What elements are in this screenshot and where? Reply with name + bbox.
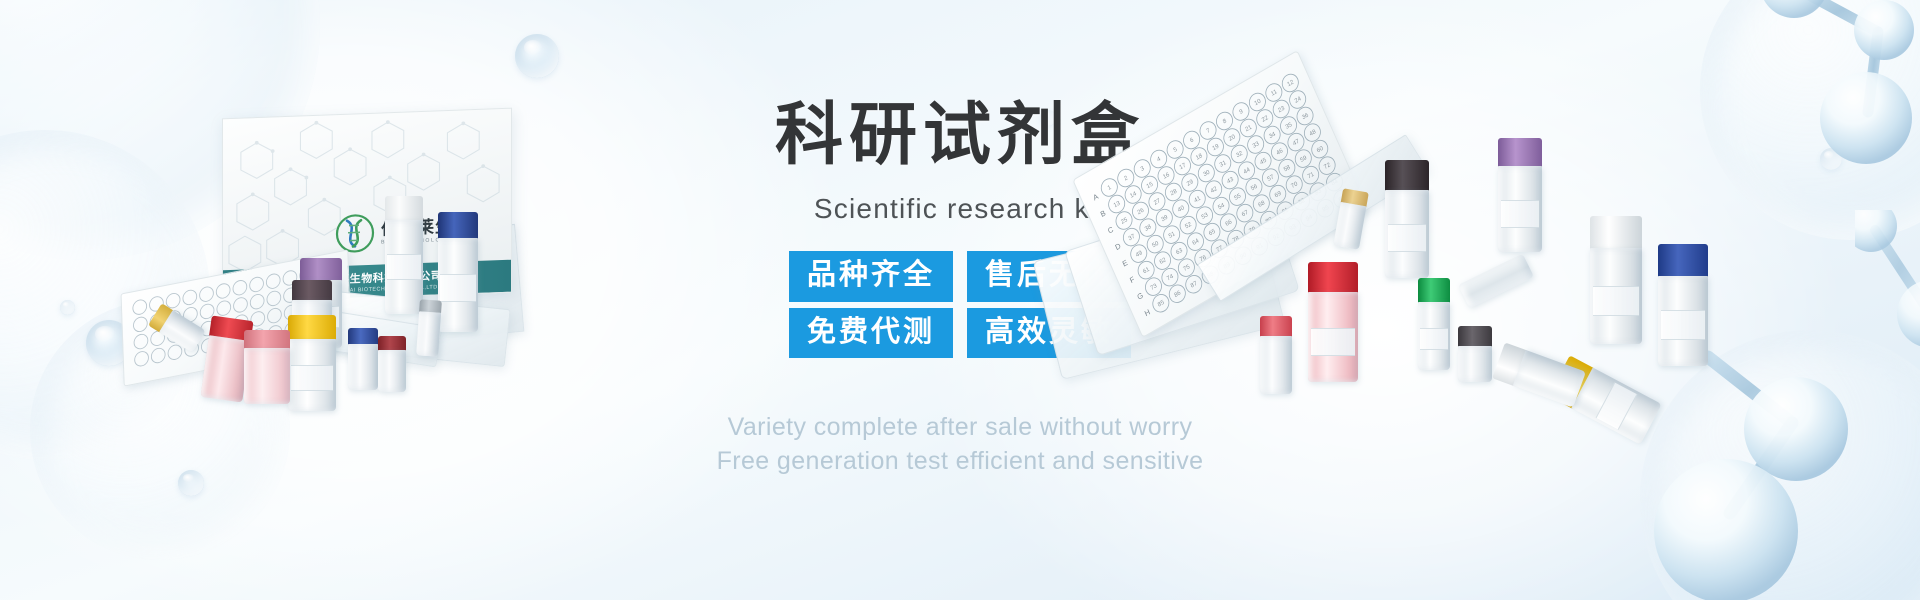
svg-text:85: 85 bbox=[1157, 299, 1166, 308]
vial-body bbox=[1458, 346, 1492, 382]
scientific-research-kit-banner: 佰利莱生物 BAILILAI BIOLOGY 上海佰利莱生物科技有限公司 SHA… bbox=[0, 0, 1920, 600]
svg-text:10: 10 bbox=[1254, 98, 1263, 107]
svg-text:48: 48 bbox=[1309, 129, 1318, 138]
vial-label bbox=[1661, 310, 1705, 340]
svg-text:42: 42 bbox=[1210, 186, 1219, 195]
svg-text:47: 47 bbox=[1292, 138, 1301, 147]
svg-text:67: 67 bbox=[1241, 209, 1250, 218]
svg-text:26: 26 bbox=[1137, 207, 1146, 216]
vial-right-gray-cap-small bbox=[1458, 326, 1492, 382]
svg-text:8: 8 bbox=[1222, 118, 1228, 125]
svg-text:4: 4 bbox=[1156, 156, 1162, 163]
vial-cap-dark-brown bbox=[1385, 160, 1429, 192]
vial-label bbox=[1420, 328, 1448, 350]
svg-text:18: 18 bbox=[1195, 153, 1204, 162]
vial-label bbox=[1311, 328, 1355, 356]
svg-text:37: 37 bbox=[1128, 233, 1137, 242]
feature-badge-variety-complete[interactable]: 品种齐全 bbox=[789, 251, 953, 301]
vial-right-green-cap bbox=[1418, 278, 1450, 370]
svg-text:3: 3 bbox=[1140, 165, 1146, 172]
svg-text:43: 43 bbox=[1226, 176, 1235, 185]
svg-text:6: 6 bbox=[1189, 137, 1195, 144]
svg-text:38: 38 bbox=[1144, 224, 1153, 233]
svg-text:H: H bbox=[1143, 307, 1151, 318]
svg-text:74: 74 bbox=[1166, 273, 1175, 282]
svg-text:15: 15 bbox=[1146, 181, 1155, 190]
svg-text:65: 65 bbox=[1208, 228, 1217, 237]
svg-text:7: 7 bbox=[1206, 127, 1212, 134]
svg-text:28: 28 bbox=[1170, 188, 1179, 197]
svg-text:29: 29 bbox=[1186, 179, 1195, 188]
svg-text:23: 23 bbox=[1278, 105, 1287, 114]
svg-text:73: 73 bbox=[1150, 283, 1159, 292]
svg-text:51: 51 bbox=[1168, 231, 1177, 240]
svg-text:70: 70 bbox=[1291, 181, 1300, 190]
svg-text:2: 2 bbox=[1124, 175, 1130, 182]
svg-text:44: 44 bbox=[1243, 167, 1252, 176]
svg-text:31: 31 bbox=[1219, 160, 1228, 169]
svg-text:58: 58 bbox=[1283, 164, 1292, 173]
vial-right-dark-cap bbox=[1385, 160, 1429, 278]
svg-text:72: 72 bbox=[1323, 162, 1332, 171]
svg-text:D: D bbox=[1114, 241, 1123, 252]
svg-text:41: 41 bbox=[1194, 195, 1203, 204]
svg-text:56: 56 bbox=[1250, 183, 1259, 192]
vial-right-white-bottle bbox=[1590, 216, 1642, 344]
svg-text:11: 11 bbox=[1270, 89, 1278, 98]
svg-text:68: 68 bbox=[1258, 200, 1267, 209]
svg-text:E: E bbox=[1121, 258, 1129, 269]
vial-label bbox=[1501, 200, 1540, 228]
svg-text:13: 13 bbox=[1113, 200, 1122, 209]
svg-text:19: 19 bbox=[1212, 143, 1221, 152]
svg-text:33: 33 bbox=[1252, 141, 1261, 150]
svg-text:22: 22 bbox=[1261, 115, 1270, 124]
vial-right-blue-cap bbox=[1658, 244, 1708, 366]
svg-text:21: 21 bbox=[1245, 124, 1254, 133]
vial-right-red-cap bbox=[1308, 262, 1358, 382]
svg-text:66: 66 bbox=[1225, 219, 1234, 228]
vial-body bbox=[1260, 336, 1292, 394]
vial-right-clear-tube bbox=[1458, 254, 1534, 309]
svg-text:12: 12 bbox=[1287, 79, 1296, 88]
svg-text:64: 64 bbox=[1192, 238, 1201, 247]
svg-text:57: 57 bbox=[1267, 174, 1276, 183]
vial-cap-red bbox=[1308, 262, 1358, 294]
svg-text:53: 53 bbox=[1201, 212, 1210, 221]
svg-text:B: B bbox=[1099, 208, 1107, 219]
vial-cap-pink bbox=[1260, 316, 1292, 338]
svg-text:46: 46 bbox=[1276, 148, 1285, 157]
svg-text:75: 75 bbox=[1183, 264, 1192, 273]
svg-text:52: 52 bbox=[1184, 221, 1193, 230]
svg-text:62: 62 bbox=[1159, 257, 1168, 266]
vial-label bbox=[1388, 224, 1427, 252]
svg-text:87: 87 bbox=[1190, 280, 1199, 289]
svg-text:9: 9 bbox=[1239, 108, 1245, 115]
svg-text:30: 30 bbox=[1203, 169, 1212, 178]
svg-text:A: A bbox=[1092, 192, 1100, 203]
right-product-cluster: ABCD EFGH 1234 5678 9101112 bbox=[1030, 0, 1650, 600]
svg-text:16: 16 bbox=[1162, 172, 1171, 181]
svg-text:54: 54 bbox=[1217, 202, 1226, 211]
vial-cap-purple bbox=[1498, 138, 1542, 168]
svg-text:25: 25 bbox=[1120, 217, 1129, 226]
vial-cap-white bbox=[1590, 216, 1642, 250]
svg-text:F: F bbox=[1128, 274, 1136, 285]
svg-text:27: 27 bbox=[1153, 198, 1162, 207]
svg-text:24: 24 bbox=[1294, 96, 1303, 105]
svg-text:1: 1 bbox=[1107, 184, 1113, 191]
vial-cap-blue bbox=[1658, 244, 1708, 278]
svg-text:50: 50 bbox=[1152, 240, 1161, 249]
vial-right-white-small-angled bbox=[1492, 342, 1586, 407]
svg-text:45: 45 bbox=[1259, 157, 1268, 166]
svg-text:39: 39 bbox=[1161, 214, 1170, 223]
svg-text:G: G bbox=[1136, 290, 1145, 301]
svg-text:20: 20 bbox=[1228, 134, 1237, 143]
vial-cap-gray bbox=[1458, 326, 1492, 348]
vial-cap-green bbox=[1418, 278, 1450, 304]
svg-text:55: 55 bbox=[1234, 193, 1243, 202]
svg-text:5: 5 bbox=[1173, 146, 1179, 153]
svg-text:14: 14 bbox=[1129, 191, 1138, 200]
svg-text:49: 49 bbox=[1135, 250, 1144, 259]
svg-text:40: 40 bbox=[1177, 205, 1186, 214]
svg-text:34: 34 bbox=[1268, 131, 1277, 140]
feature-badge-free-testing[interactable]: 免费代测 bbox=[789, 308, 953, 358]
svg-text:61: 61 bbox=[1142, 266, 1151, 275]
svg-text:63: 63 bbox=[1175, 247, 1184, 256]
svg-text:86: 86 bbox=[1174, 290, 1183, 299]
svg-text:60: 60 bbox=[1316, 145, 1325, 154]
svg-text:59: 59 bbox=[1300, 155, 1309, 164]
vial-body bbox=[1458, 254, 1534, 309]
vial-right-pink-small bbox=[1260, 316, 1292, 394]
svg-text:C: C bbox=[1106, 224, 1115, 235]
svg-text:32: 32 bbox=[1236, 150, 1245, 159]
svg-text:35: 35 bbox=[1285, 122, 1294, 131]
svg-text:69: 69 bbox=[1274, 190, 1283, 199]
svg-text:71: 71 bbox=[1307, 171, 1316, 180]
svg-text:36: 36 bbox=[1301, 112, 1310, 121]
svg-text:17: 17 bbox=[1179, 162, 1188, 171]
vial-label bbox=[1593, 286, 1639, 316]
vial-right-purple-cap bbox=[1498, 138, 1542, 252]
